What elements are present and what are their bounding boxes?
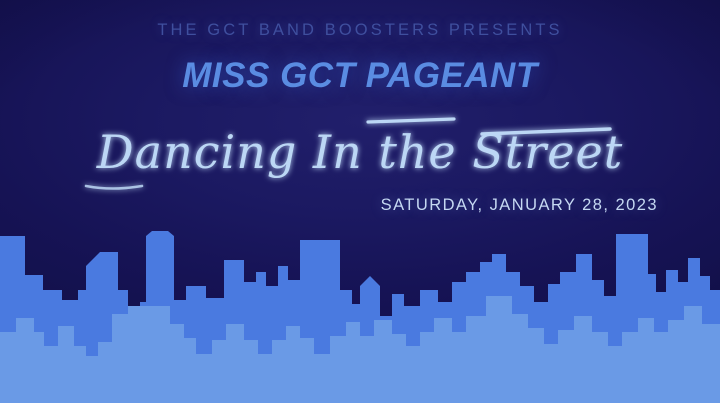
script-flourish-the: [368, 119, 454, 122]
flyer-text-block: THE GCT BAND BOOSTERS PRESENTS MISS GCT …: [0, 0, 720, 215]
event-date: SATURDAY, JANUARY 28, 2023: [0, 194, 720, 215]
script-title-line: Dancing In the Street: [0, 96, 720, 194]
script-flourish-dancing: [86, 186, 142, 189]
page-title: MISS GCT PAGEANT: [0, 40, 720, 96]
event-flyer: THE GCT BAND BOOSTERS PRESENTS MISS GCT …: [0, 0, 720, 403]
script-title-art: Dancing In the Street: [50, 98, 670, 194]
presenter-kicker: THE GCT BAND BOOSTERS PRESENTS: [0, 0, 720, 40]
city-skyline: [0, 228, 720, 403]
